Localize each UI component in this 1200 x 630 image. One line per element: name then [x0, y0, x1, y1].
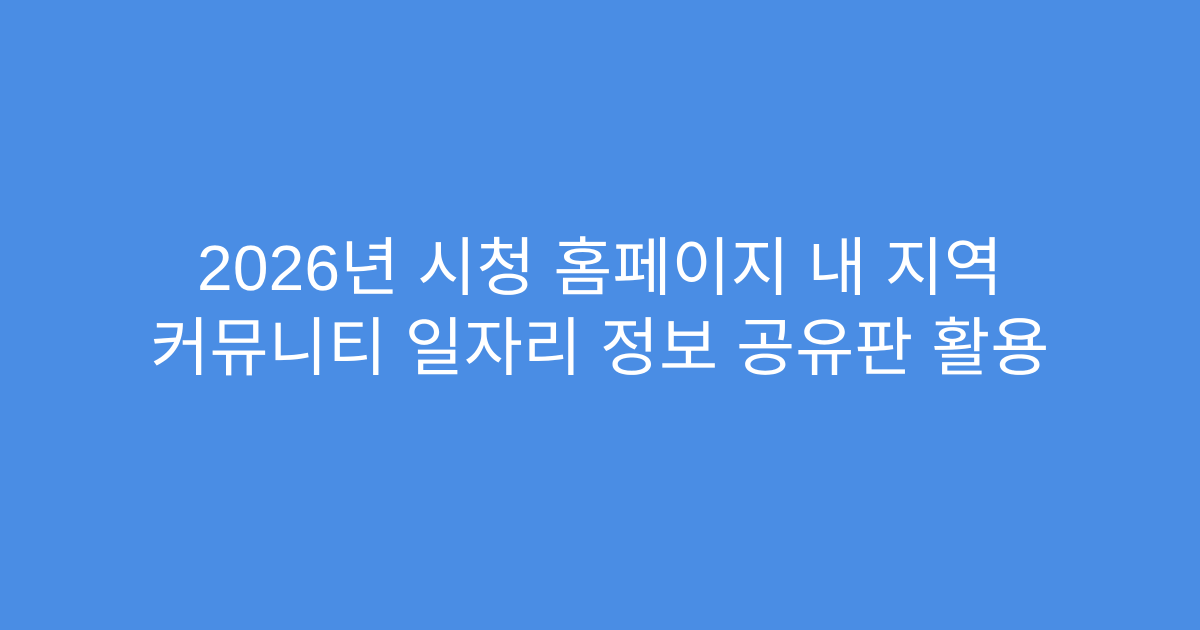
og-card: 2026년 시청 홈페이지 내 지역 커뮤니티 일자리 정보 공유판 활용: [0, 0, 1200, 630]
headline-block: 2026년 시청 홈페이지 내 지역 커뮤니티 일자리 정보 공유판 활용: [65, 228, 1135, 388]
page-title: 2026년 시청 홈페이지 내 지역 커뮤니티 일자리 정보 공유판 활용: [65, 228, 1135, 388]
